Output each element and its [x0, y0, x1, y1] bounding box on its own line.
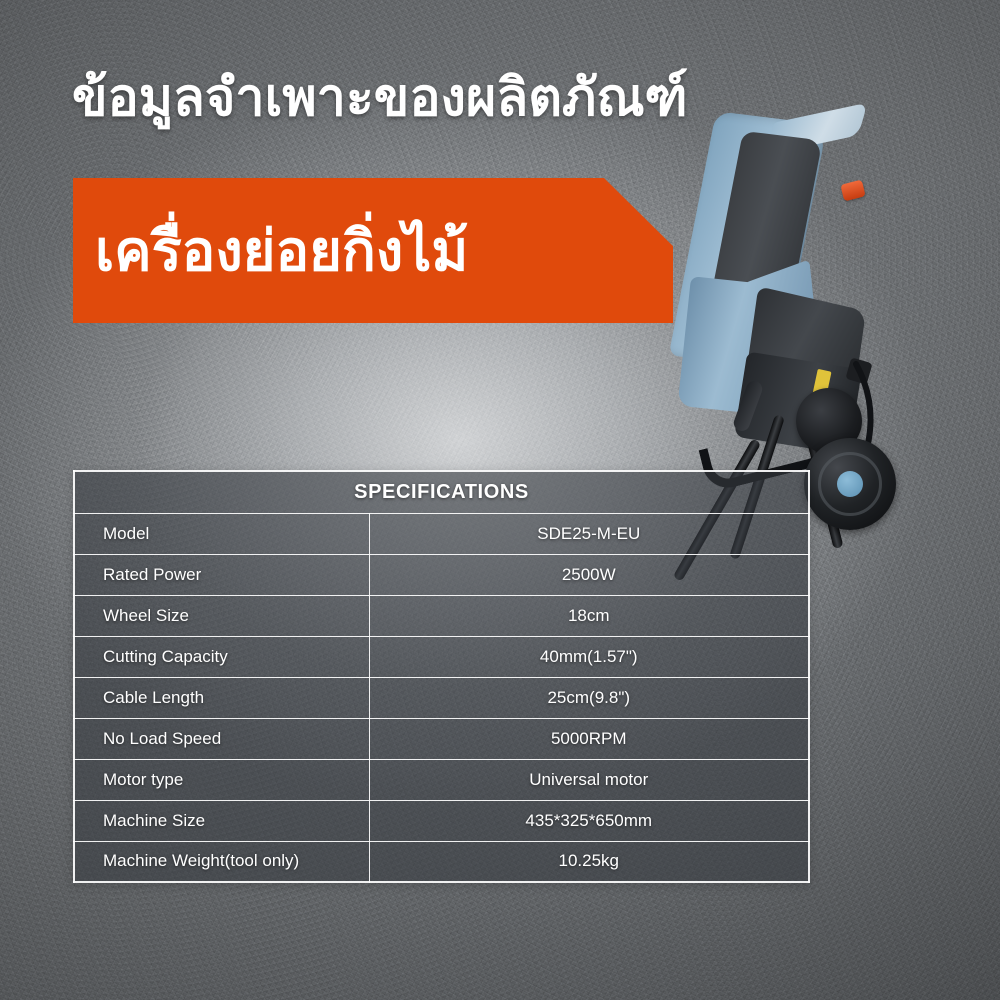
- spec-label: Model: [74, 513, 369, 554]
- spec-value: Universal motor: [369, 759, 809, 800]
- table-row: Machine Weight(tool only) 10.25kg: [74, 841, 809, 882]
- spec-label: Cutting Capacity: [74, 636, 369, 677]
- spec-value: 18cm: [369, 595, 809, 636]
- spec-label: Rated Power: [74, 554, 369, 595]
- spec-label: Machine Weight(tool only): [74, 841, 369, 882]
- table-header-row: SPECIFICATIONS: [74, 471, 809, 513]
- spec-value: 25cm(9.8"): [369, 677, 809, 718]
- spec-value: 10.25kg: [369, 841, 809, 882]
- spec-value: 5000RPM: [369, 718, 809, 759]
- table-row: Cutting Capacity 40mm(1.57"): [74, 636, 809, 677]
- spec-value: SDE25-M-EU: [369, 513, 809, 554]
- wheel-front: [804, 438, 896, 530]
- table-row: Motor type Universal motor: [74, 759, 809, 800]
- specifications-header: SPECIFICATIONS: [74, 471, 809, 513]
- product-name-banner: เครื่องย่อยกิ่งไม้: [73, 178, 673, 323]
- spec-value: 435*325*650mm: [369, 800, 809, 841]
- table-row: Wheel Size 18cm: [74, 595, 809, 636]
- product-name-label: เครื่องย่อยกิ่งไม้: [73, 220, 468, 282]
- table-row: Rated Power 2500W: [74, 554, 809, 595]
- specifications-body: Model SDE25-M-EU Rated Power 2500W Wheel…: [74, 513, 809, 882]
- spec-value: 2500W: [369, 554, 809, 595]
- spec-label: Wheel Size: [74, 595, 369, 636]
- product-photo-wood-chipper: [620, 112, 940, 532]
- spec-value: 40mm(1.57"): [369, 636, 809, 677]
- table-row: Model SDE25-M-EU: [74, 513, 809, 554]
- spec-label: Cable Length: [74, 677, 369, 718]
- spec-label: No Load Speed: [74, 718, 369, 759]
- table-row: No Load Speed 5000RPM: [74, 718, 809, 759]
- spec-label: Motor type: [74, 759, 369, 800]
- specifications-table: SPECIFICATIONS Model SDE25-M-EU Rated Po…: [73, 470, 810, 883]
- table-row: Cable Length 25cm(9.8"): [74, 677, 809, 718]
- table-row: Machine Size 435*325*650mm: [74, 800, 809, 841]
- product-spec-poster: ข้อมูลจำเพาะของผลิตภัณฑ์ เครื่องย่อยกิ่ง…: [0, 0, 1000, 1000]
- spec-label: Machine Size: [74, 800, 369, 841]
